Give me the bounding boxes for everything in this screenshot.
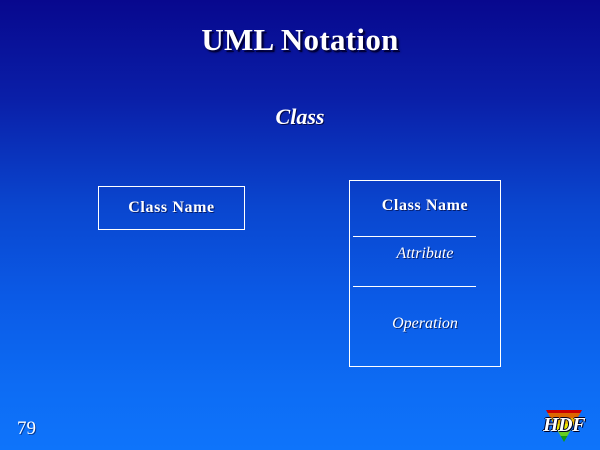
class-operation-label: Operation bbox=[350, 315, 500, 333]
compartment-divider-attribute-operation bbox=[353, 286, 476, 287]
page-number: 79 bbox=[17, 418, 36, 440]
class-name-label: Class Name bbox=[128, 199, 214, 217]
slide-canvas: UML Notation Class Class Name Class Name… bbox=[0, 0, 600, 450]
section-subtitle: Class bbox=[0, 104, 600, 130]
class-attribute-label: Attribute bbox=[350, 245, 500, 263]
page-title: UML Notation bbox=[0, 22, 600, 58]
compartment-divider-name-attribute bbox=[353, 236, 476, 237]
class-name-label: Class Name bbox=[350, 197, 500, 215]
hdf-logo: HDF bbox=[538, 404, 590, 444]
uml-class-box-detailed: Class Name Attribute Operation bbox=[349, 180, 501, 367]
hdf-logo-text: HDF bbox=[538, 414, 590, 437]
uml-class-box-simple: Class Name bbox=[98, 186, 245, 230]
